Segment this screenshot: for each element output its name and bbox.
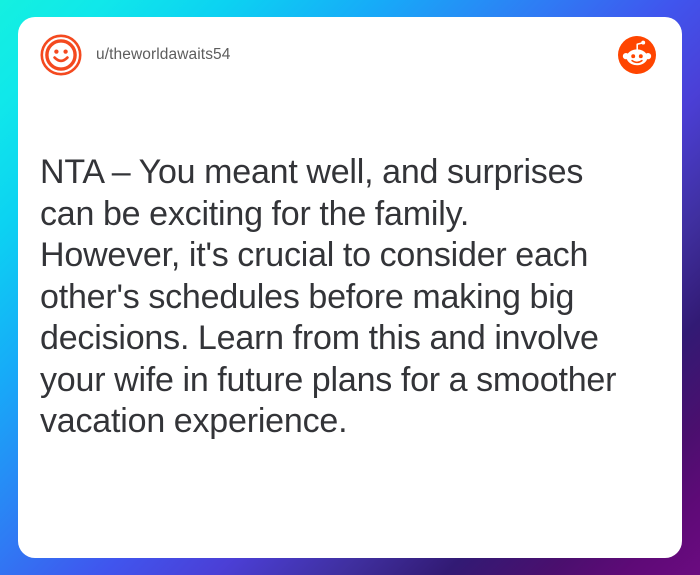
smiley-avatar-icon <box>40 34 82 76</box>
comment-card: u/theworldawaits54 <box>18 17 682 558</box>
username-label: u/theworldawaits54 <box>96 46 231 64</box>
card-header: u/theworldawaits54 <box>18 17 682 93</box>
gradient-backdrop: u/theworldawaits54 <box>0 0 700 575</box>
reddit-snoo-icon[interactable] <box>618 36 656 74</box>
comment-text: NTA – You meant well, and surprises can … <box>40 152 664 443</box>
